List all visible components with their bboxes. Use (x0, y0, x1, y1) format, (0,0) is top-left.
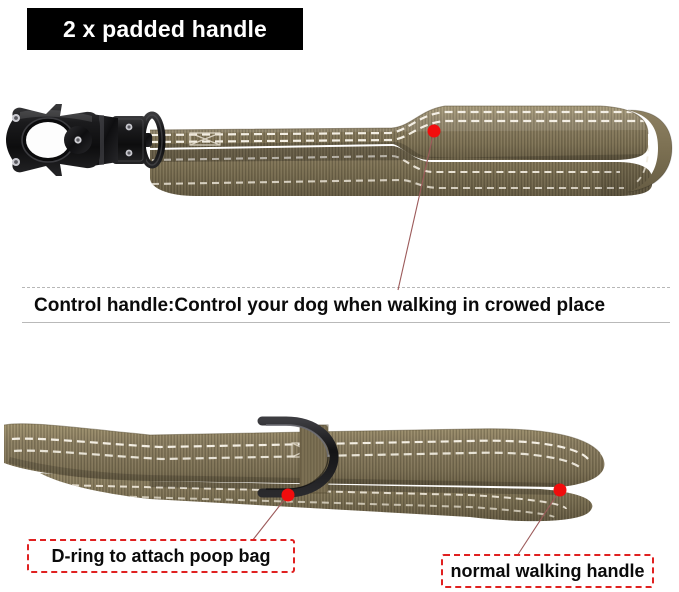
top-leash-illustration (0, 88, 679, 218)
banner-title: 2 x padded handle (63, 18, 267, 41)
bottom-leash-illustration (0, 395, 679, 530)
caption-d-ring: D-ring to attach poop bag (27, 539, 295, 573)
frog-clip-snap-hook (6, 104, 146, 176)
caption-normal-handle: normal walking handle (441, 554, 654, 588)
caption-d-ring-text: D-ring to attach poop bag (52, 547, 271, 565)
control-handle-marker-dot (428, 125, 441, 138)
normal-handle-marker-dot (554, 484, 567, 497)
product-infographic: 2 x padded handle (0, 0, 679, 592)
d-ring-marker-dot (282, 489, 295, 502)
caption-control-handle-text: Control handle:Control your dog when wal… (22, 296, 605, 315)
title-banner: 2 x padded handle (27, 8, 303, 50)
caption-control-handle: Control handle:Control your dog when wal… (22, 287, 670, 323)
caption-normal-handle-text: normal walking handle (450, 562, 644, 580)
